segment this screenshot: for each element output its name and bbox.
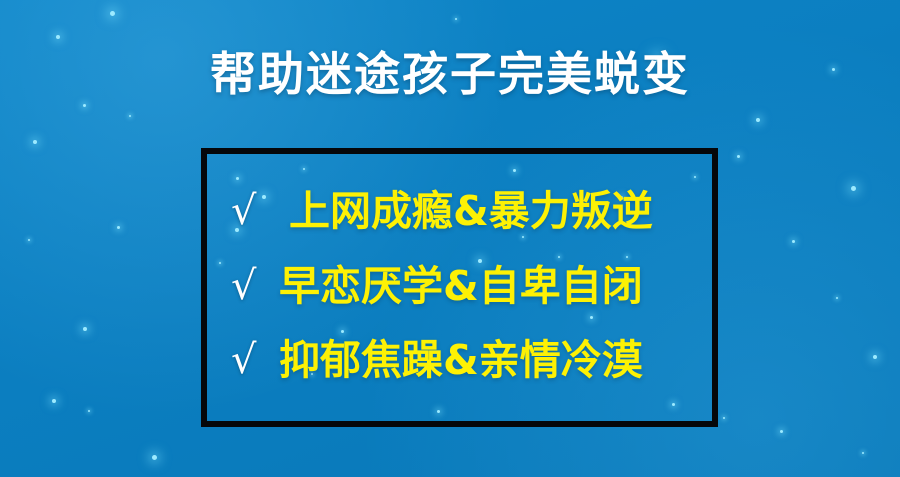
check-mark-icon: √ xyxy=(231,340,277,380)
star-particle-icon xyxy=(780,430,783,433)
star-particle-icon xyxy=(110,11,115,16)
star-particle-icon xyxy=(152,455,157,460)
star-particle-icon xyxy=(33,140,37,144)
star-particle-icon xyxy=(836,297,838,299)
list-item: √ 抑郁焦躁&亲情冷漠 xyxy=(207,336,712,384)
star-particle-icon xyxy=(873,355,877,359)
star-particle-icon xyxy=(851,186,856,191)
star-particle-icon xyxy=(28,239,30,241)
list-item: √ 上网成瘾&暴力叛逆 xyxy=(207,187,712,235)
check-mark-icon: √ xyxy=(231,266,277,306)
list-item-label: 上网成瘾&暴力叛逆 xyxy=(289,187,653,235)
check-mark-icon: √ xyxy=(231,191,277,231)
star-particle-icon xyxy=(56,35,60,39)
star-particle-icon xyxy=(737,155,740,158)
list-item-label: 早恋厌学&自卑自闭 xyxy=(279,262,643,310)
star-particle-icon xyxy=(792,240,795,243)
star-particle-icon xyxy=(723,417,725,419)
star-particle-icon xyxy=(83,327,87,331)
star-particle-icon xyxy=(862,452,864,454)
star-particle-icon xyxy=(117,226,120,229)
star-particle-icon xyxy=(52,399,56,403)
list-item: √ 早恋厌学&自卑自闭 xyxy=(207,262,712,310)
star-particle-icon xyxy=(455,18,457,20)
poster-canvas: 帮助迷途孩子完美蜕变 √ 上网成瘾&暴力叛逆 √ 早恋厌学&自卑自闭 √ 抑郁焦… xyxy=(0,0,900,477)
page-title: 帮助迷途孩子完美蜕变 xyxy=(0,44,900,104)
list-item-label: 抑郁焦躁&亲情冷漠 xyxy=(279,336,643,384)
star-particle-icon xyxy=(83,104,86,107)
highlight-list-box: √ 上网成瘾&暴力叛逆 √ 早恋厌学&自卑自闭 √ 抑郁焦躁&亲情冷漠 xyxy=(201,148,718,427)
star-particle-icon xyxy=(129,115,131,117)
star-particle-icon xyxy=(88,410,90,412)
star-particle-icon xyxy=(756,118,760,122)
